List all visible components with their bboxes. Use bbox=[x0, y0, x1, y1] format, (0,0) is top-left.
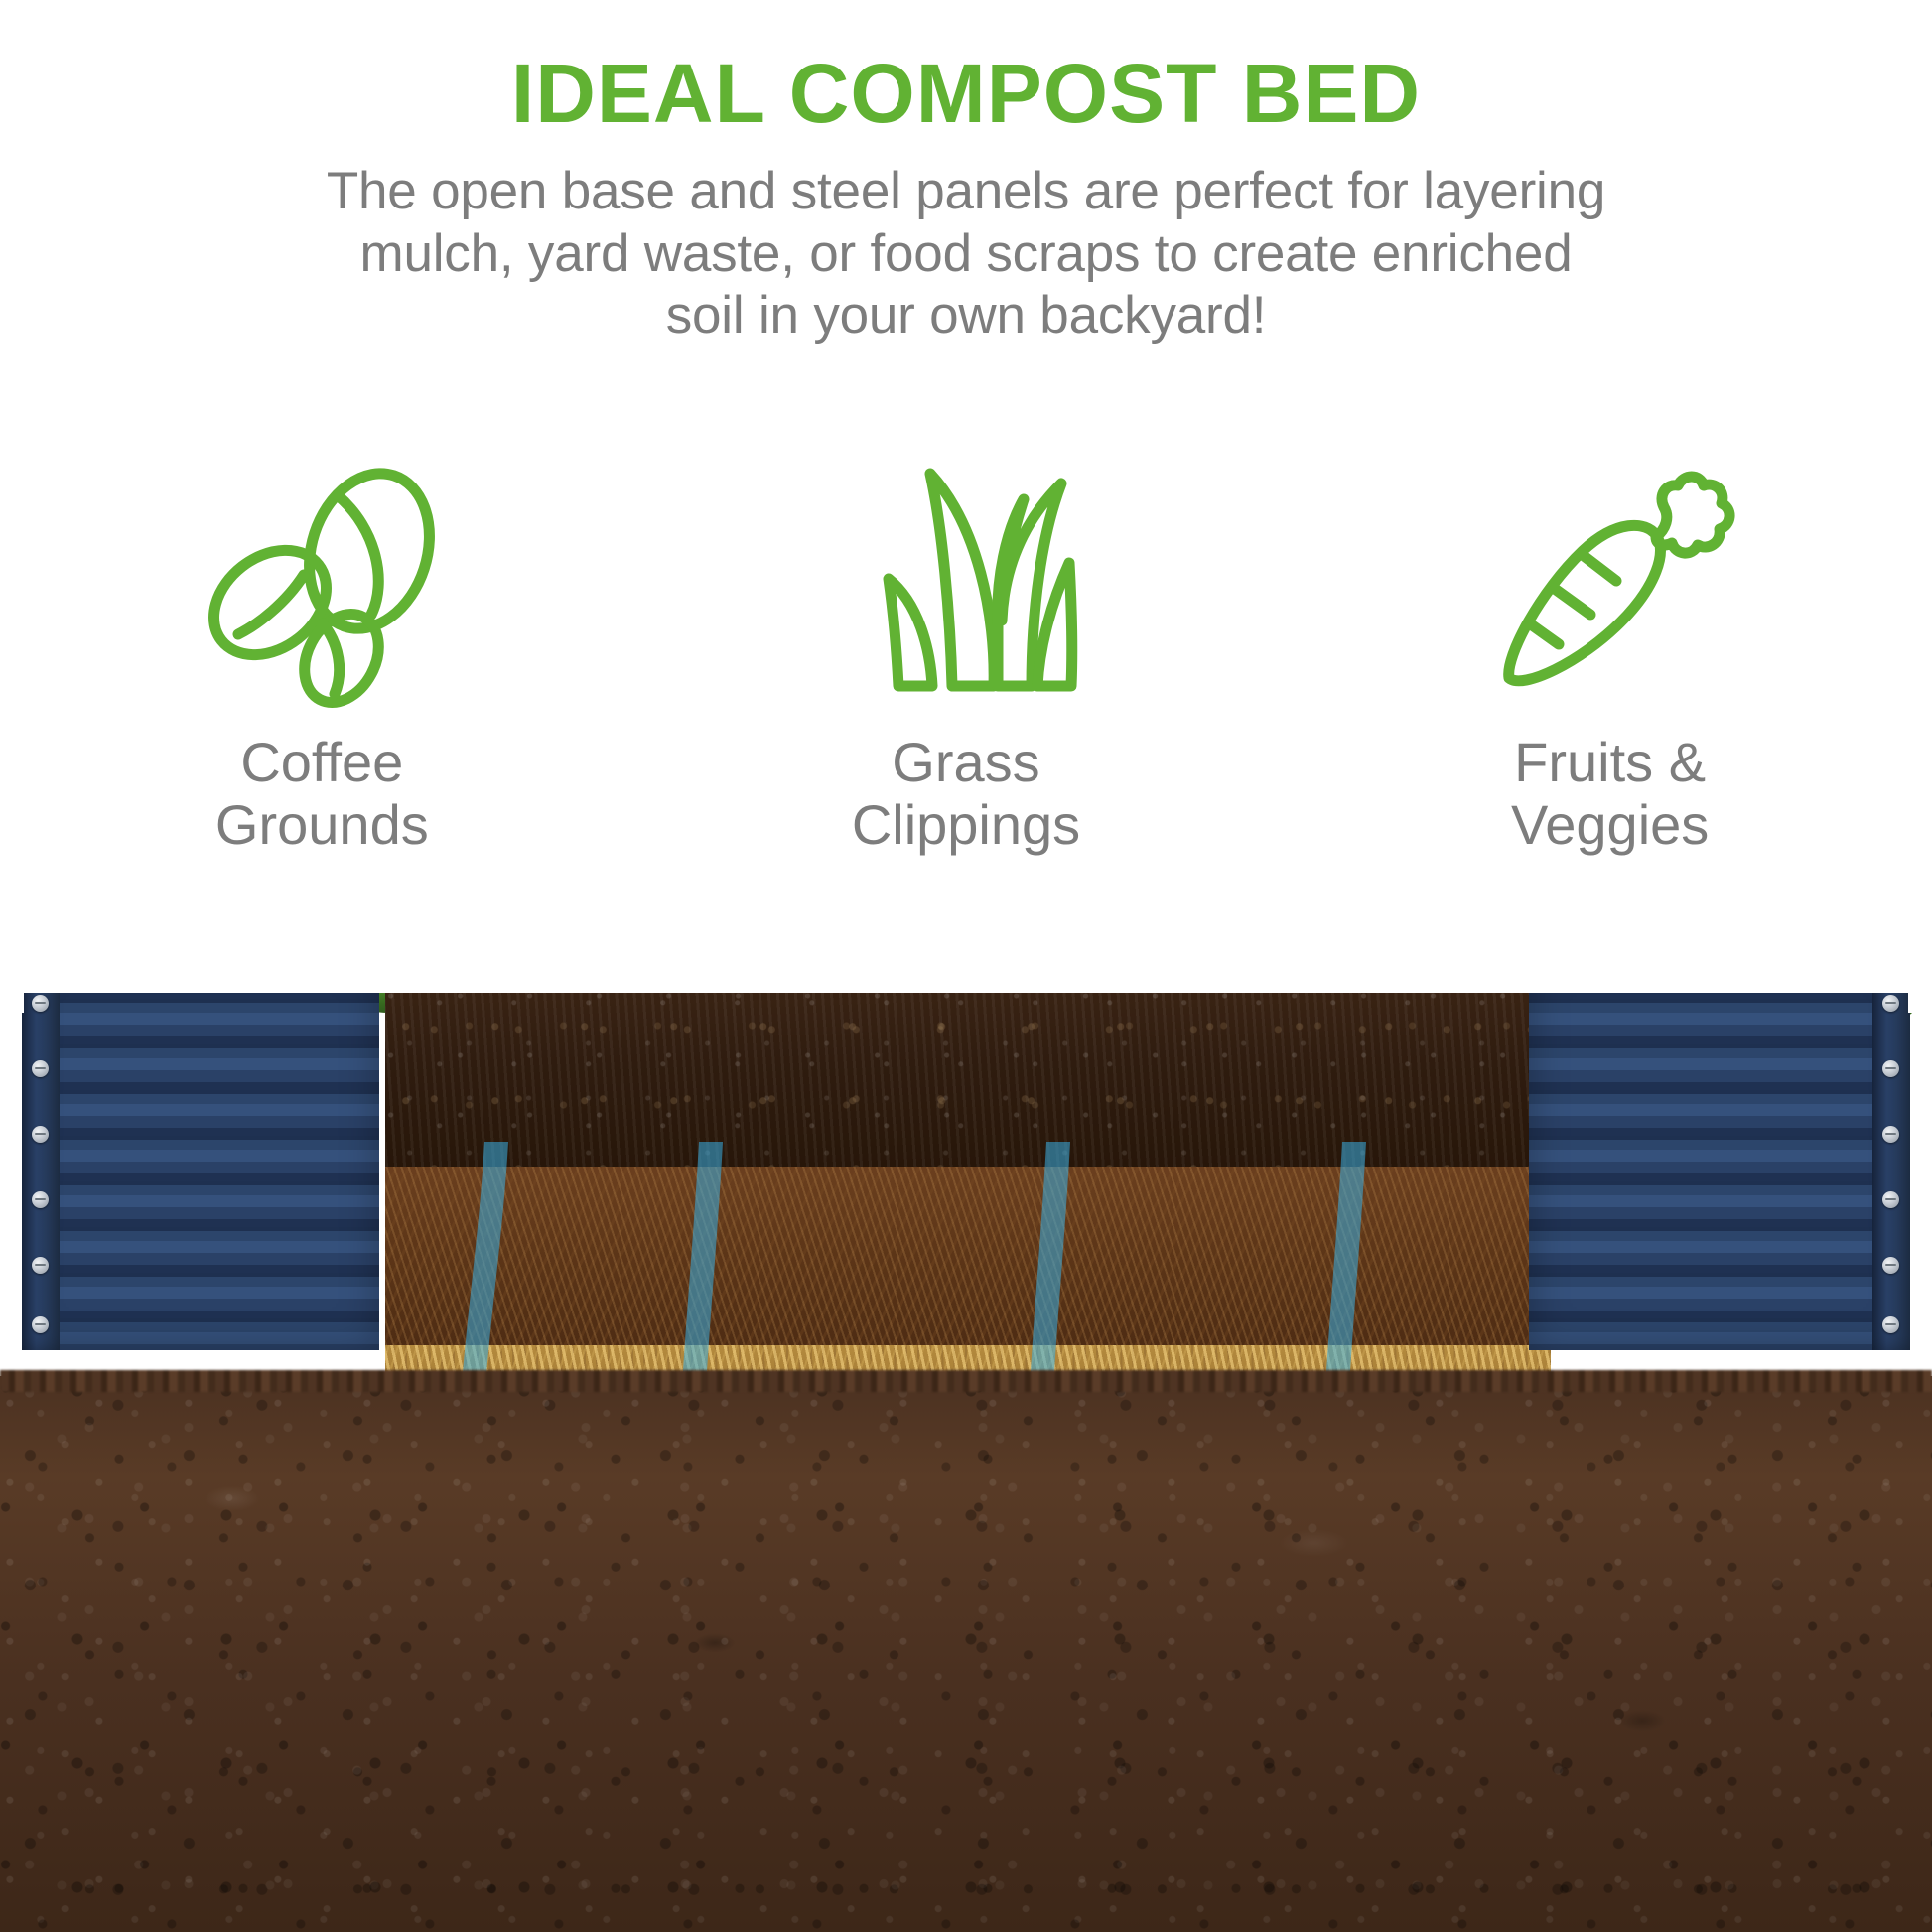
page-subtitle: The open base and steel panels are perfe… bbox=[0, 161, 1932, 347]
grass-blades-icon bbox=[827, 452, 1105, 710]
feature-label-line2: Clippings bbox=[852, 794, 1080, 857]
feature-coffee-grounds: Coffee Grounds bbox=[73, 452, 570, 856]
native-soil-ground bbox=[0, 1376, 1932, 1932]
feature-label-grass: Grass Clippings bbox=[852, 732, 1080, 856]
screw bbox=[32, 1060, 49, 1077]
corner-post-right bbox=[1872, 993, 1910, 1350]
feature-grass-clippings: Grass Clippings bbox=[718, 452, 1214, 856]
subtitle-line-3: soil in your own backyard! bbox=[0, 285, 1932, 347]
screw bbox=[1882, 1060, 1899, 1077]
corrugated-steel-surface bbox=[1529, 993, 1910, 1350]
bed-panel-right bbox=[1529, 993, 1910, 1350]
screw bbox=[32, 1126, 49, 1143]
feature-fruits-veggies: Fruits & Veggies bbox=[1362, 452, 1859, 856]
feature-label-line1: Coffee bbox=[215, 732, 429, 794]
screw bbox=[1882, 1257, 1899, 1274]
compost-bed-infographic: IDEAL COMPOST BED The open base and stee… bbox=[0, 0, 1932, 1932]
screw bbox=[32, 995, 49, 1012]
feature-label-line2: Veggies bbox=[1511, 794, 1709, 857]
coffee-beans-icon bbox=[183, 452, 461, 710]
page-title: IDEAL COMPOST BED bbox=[0, 0, 1932, 135]
screw bbox=[1882, 995, 1899, 1012]
feature-label-line1: Grass bbox=[852, 732, 1080, 794]
screw bbox=[32, 1257, 49, 1274]
screw bbox=[32, 1191, 49, 1208]
corrugated-steel-surface bbox=[22, 993, 379, 1350]
layer-topsoil bbox=[385, 993, 1551, 1167]
feature-list: Coffee Grounds Grass Clippings bbox=[0, 452, 1932, 856]
carrot-icon bbox=[1471, 452, 1749, 710]
corner-post-left bbox=[22, 993, 60, 1350]
feature-label-line1: Fruits & bbox=[1511, 732, 1709, 794]
feature-label-coffee: Coffee Grounds bbox=[215, 732, 429, 856]
subtitle-line-1: The open base and steel panels are perfe… bbox=[0, 161, 1932, 223]
white-backdrop-right bbox=[1908, 993, 1932, 1013]
soil-surface-edge bbox=[0, 1370, 1932, 1392]
subtitle-line-2: mulch, yard waste, or food scraps to cre… bbox=[0, 223, 1932, 286]
screw bbox=[32, 1316, 49, 1333]
screw bbox=[1882, 1316, 1899, 1333]
header: IDEAL COMPOST BED The open base and stee… bbox=[0, 0, 1932, 347]
product-scene bbox=[0, 993, 1932, 1932]
feature-label-veggies: Fruits & Veggies bbox=[1511, 732, 1709, 856]
screw bbox=[1882, 1191, 1899, 1208]
white-backdrop-left bbox=[0, 993, 24, 1013]
screw bbox=[1882, 1126, 1899, 1143]
feature-label-line2: Grounds bbox=[215, 794, 429, 857]
bed-panel-left bbox=[22, 993, 379, 1350]
